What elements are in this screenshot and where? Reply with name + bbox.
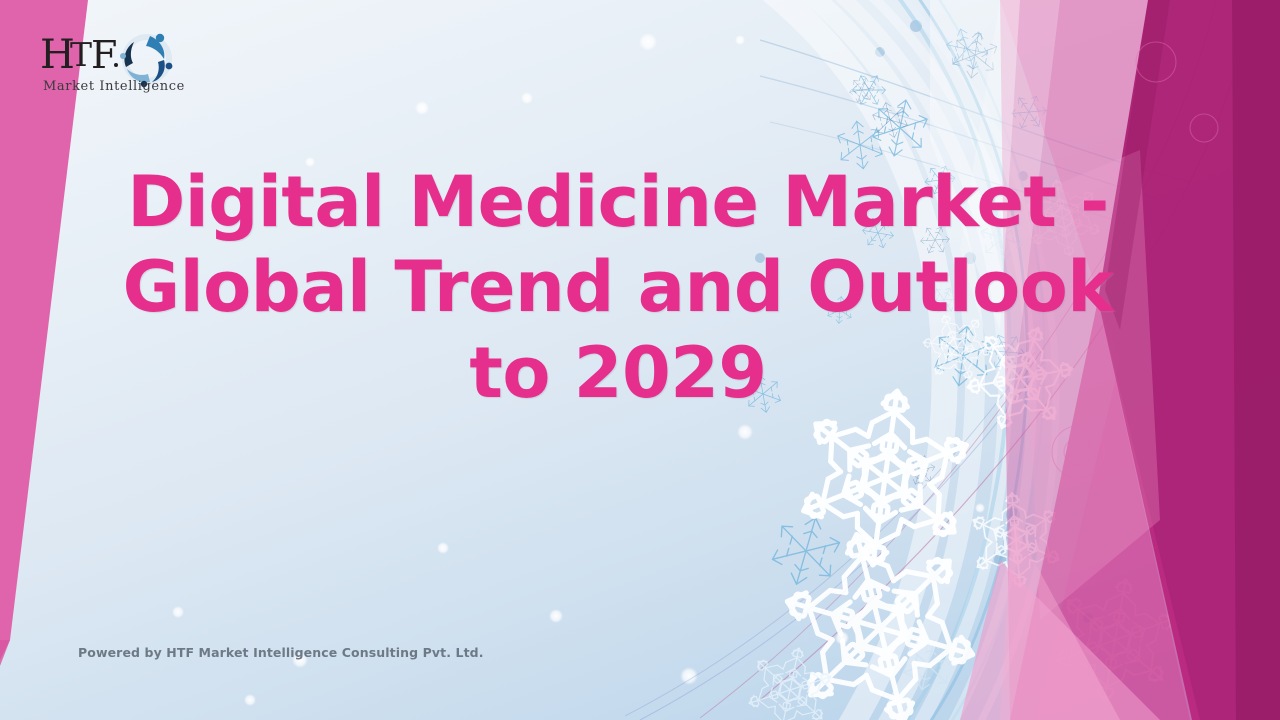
title-slide: H T F Market Intelligence Digital Medici… [0, 0, 1280, 720]
page-title: Digital Medicine Market - Global Trend a… [118, 160, 1118, 416]
poly-deep-right [1098, 0, 1280, 720]
logo-tagline-text: Market Intelligence [43, 79, 185, 94]
title-block: Digital Medicine Market - Global Trend a… [118, 160, 1118, 416]
poly-dark-edge [1232, 0, 1280, 720]
svg-text:T: T [70, 35, 92, 74]
poly-lower-light [960, 560, 1160, 720]
poly-lower-light-2 [1000, 520, 1120, 720]
htf-logo[interactable]: H T F Market Intelligence [38, 24, 188, 102]
left-wedge-shadow [0, 640, 10, 666]
footer: Powered by HTF Market Intelligence Consu… [78, 645, 484, 660]
svg-text:F: F [91, 33, 117, 77]
footer-credit-text: Powered by HTF Market Intelligence Consu… [78, 645, 484, 660]
